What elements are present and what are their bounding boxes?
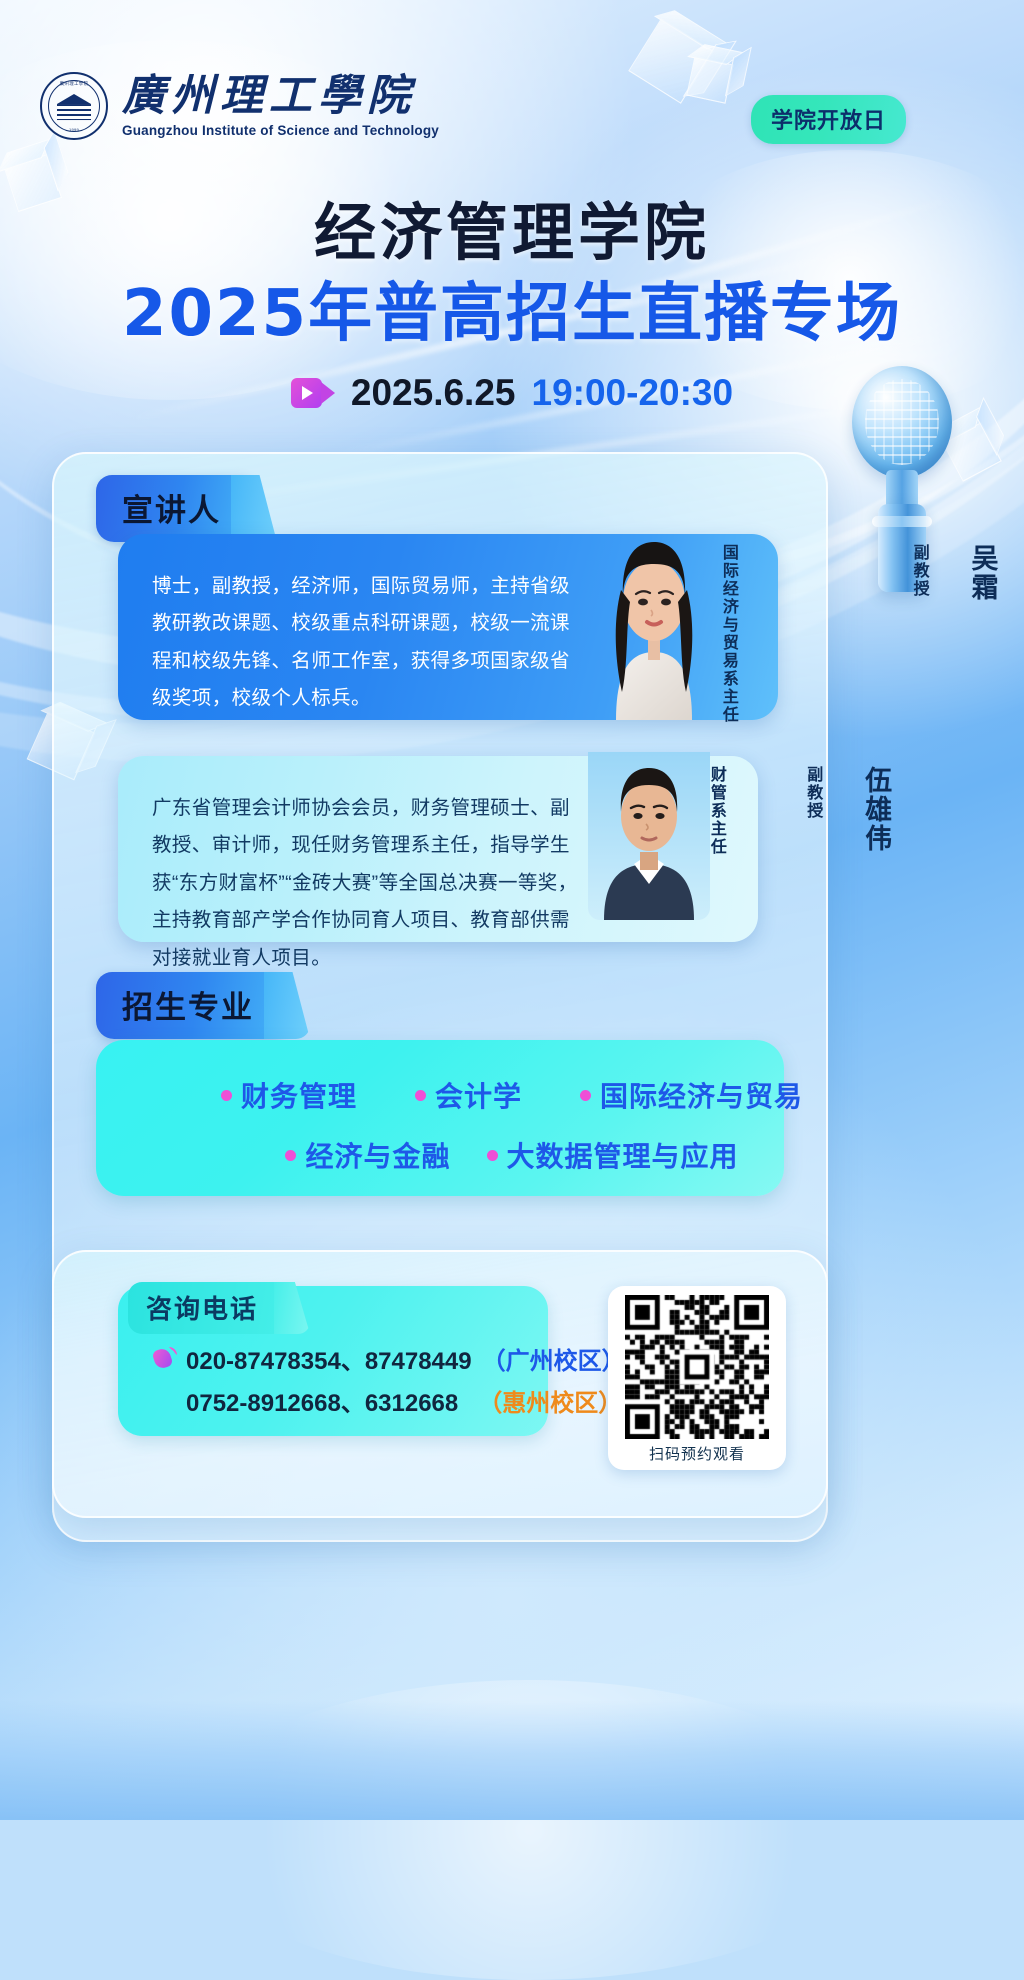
video-camera-icon <box>291 378 335 408</box>
phone-icon <box>150 1346 176 1372</box>
university-name-cn: 廣州理工學院 <box>122 75 439 118</box>
broadcast-date: 2025.6.25 <box>351 372 516 414</box>
campus-label-guangzhou: （广州校区） <box>482 1341 626 1376</box>
poster-title-line1: 经济管理学院 <box>0 182 1024 272</box>
open-day-badge[interactable]: 学院开放日 <box>751 95 906 144</box>
major-label: 财务管理 <box>241 1075 357 1115</box>
phone-numbers-1: 020-87478354、87478449 <box>186 1341 472 1376</box>
speaker-label-2: 伍雄伟 副教授 财管系主任 <box>706 766 890 936</box>
section-tab-contact: 咨询电话 <box>128 1282 292 1334</box>
speaker-role-2-line2: 财管系主任 <box>706 766 725 856</box>
crest-building-icon <box>57 94 91 120</box>
section-tab-majors: 招生专业 <box>96 972 288 1039</box>
major-item[interactable]: 大数据管理与应用 <box>487 1135 739 1175</box>
speaker-role-2-line1: 副教授 <box>802 766 821 820</box>
university-logo: 廣州理工學院 1999 廣州理工學院 Guangzhou Institute o… <box>40 72 439 140</box>
speaker-bio-1: 博士，副教授，经济师，国际贸易师，主持省级教研教改课题、校级重点科研课题，校级一… <box>152 568 580 718</box>
major-label: 会计学 <box>435 1075 522 1115</box>
majors-row-1: 财务管理 会计学 国际经济与贸易 <box>0 1075 1024 1115</box>
speaker-name-1: 吴霜 <box>967 544 996 602</box>
university-name-en: Guangzhou Institute of Science and Techn… <box>122 123 439 138</box>
speaker-role-1-line1: 副教授 <box>909 544 928 598</box>
crest-bottom-text: 1999 <box>69 127 79 132</box>
qr-card[interactable]: 扫码预约观看 <box>608 1286 786 1470</box>
bottom-gradient-strip <box>0 1700 1024 1820</box>
section-tab-speakers: 宣讲人 <box>96 475 255 542</box>
speaker-photo-1 <box>588 506 720 720</box>
major-label: 经济与金融 <box>305 1135 450 1175</box>
phone-numbers-2: 0752-8912668、6312668 <box>186 1383 458 1418</box>
major-label: 国际经济与贸易 <box>600 1075 803 1115</box>
major-item[interactable]: 财务管理 <box>221 1075 357 1115</box>
speaker-label-1: 吴霜 副教授 国际经济与贸易系主任 <box>718 544 997 714</box>
campus-label-huizhou: （惠州校区） <box>478 1383 622 1418</box>
university-crest-icon: 廣州理工學院 1999 <box>40 72 108 140</box>
bullet-dot-icon <box>221 1090 232 1101</box>
qr-code-image[interactable] <box>625 1295 769 1439</box>
major-label: 大数据管理与应用 <box>507 1135 739 1175</box>
speaker-bio-2: 广东省管理会计师协会会员，财务管理硕士、副教授、审计师，现任财务管理系主任，指导… <box>152 790 580 977</box>
major-item[interactable]: 经济与金融 <box>285 1135 450 1175</box>
bullet-dot-icon <box>580 1090 591 1101</box>
majors-row-2: 经济与金融 大数据管理与应用 <box>0 1135 1024 1175</box>
crest-top-text: 廣州理工學院 <box>60 81 89 87</box>
broadcast-time: 19:00-20:30 <box>532 372 734 414</box>
bullet-dot-icon <box>487 1150 498 1161</box>
contact-phone-line-1[interactable]: 020-87478354、87478449 （广州校区） <box>150 1341 626 1376</box>
major-item[interactable]: 会计学 <box>415 1075 522 1115</box>
poster-title-line2: 2025年普高招生直播专场 <box>0 262 1024 354</box>
speaker-role-1-line2: 国际经济与贸易系主任 <box>718 544 737 724</box>
contact-phone-line-2[interactable]: 0752-8912668、6312668 （惠州校区） <box>186 1383 622 1418</box>
speaker-name-2: 伍雄伟 <box>861 766 890 853</box>
speaker-photo-2 <box>588 752 710 920</box>
bullet-dot-icon <box>415 1090 426 1101</box>
qr-caption: 扫码预约观看 <box>649 1443 745 1464</box>
bullet-dot-icon <box>285 1150 296 1161</box>
poster-header: 廣州理工學院 1999 廣州理工學院 Guangzhou Institute o… <box>0 0 1024 160</box>
major-item[interactable]: 国际经济与贸易 <box>580 1075 803 1115</box>
